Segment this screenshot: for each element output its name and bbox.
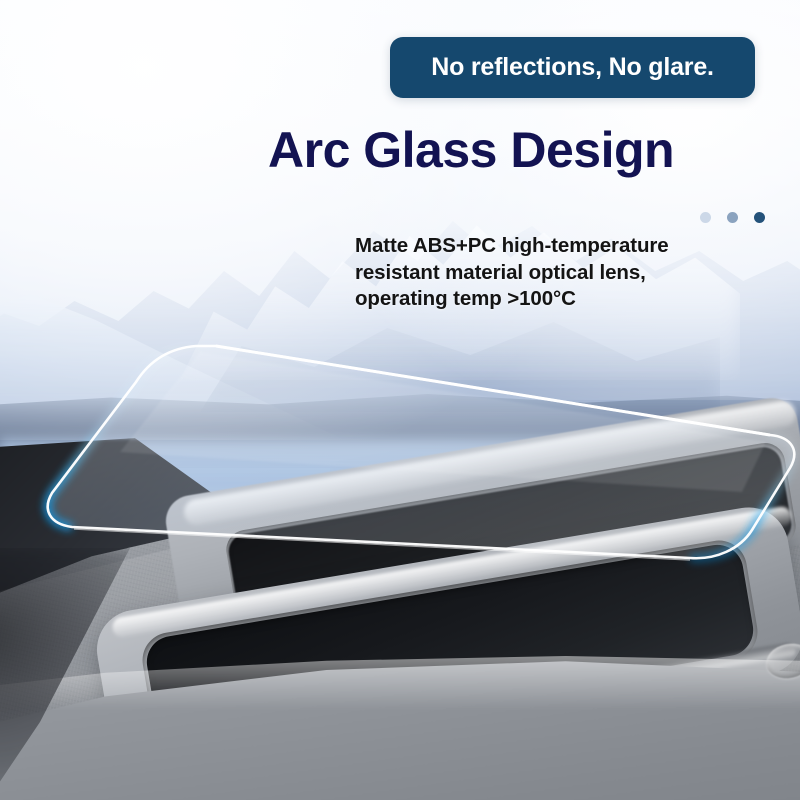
car-dashboard — [0, 398, 800, 800]
dot-1-icon — [700, 212, 711, 223]
dot-3-icon — [754, 212, 765, 223]
product-hero-image: No reflections, No glare. Arc Glass Desi… — [0, 0, 800, 800]
decorative-dots — [700, 212, 765, 223]
page-title: Arc Glass Design — [268, 124, 758, 177]
feature-description-line-2: resistant material optical lens, — [355, 260, 755, 287]
feature-description-line-3: operating temp >100°C — [355, 286, 755, 313]
dot-2-icon — [727, 212, 738, 223]
feature-description: Matte ABS+PC high-temperature resistant … — [355, 233, 755, 313]
tagline-badge: No reflections, No glare. — [390, 37, 755, 98]
tagline-badge-label: No reflections, No glare. — [431, 53, 714, 82]
feature-description-line-1: Matte ABS+PC high-temperature — [355, 233, 755, 260]
